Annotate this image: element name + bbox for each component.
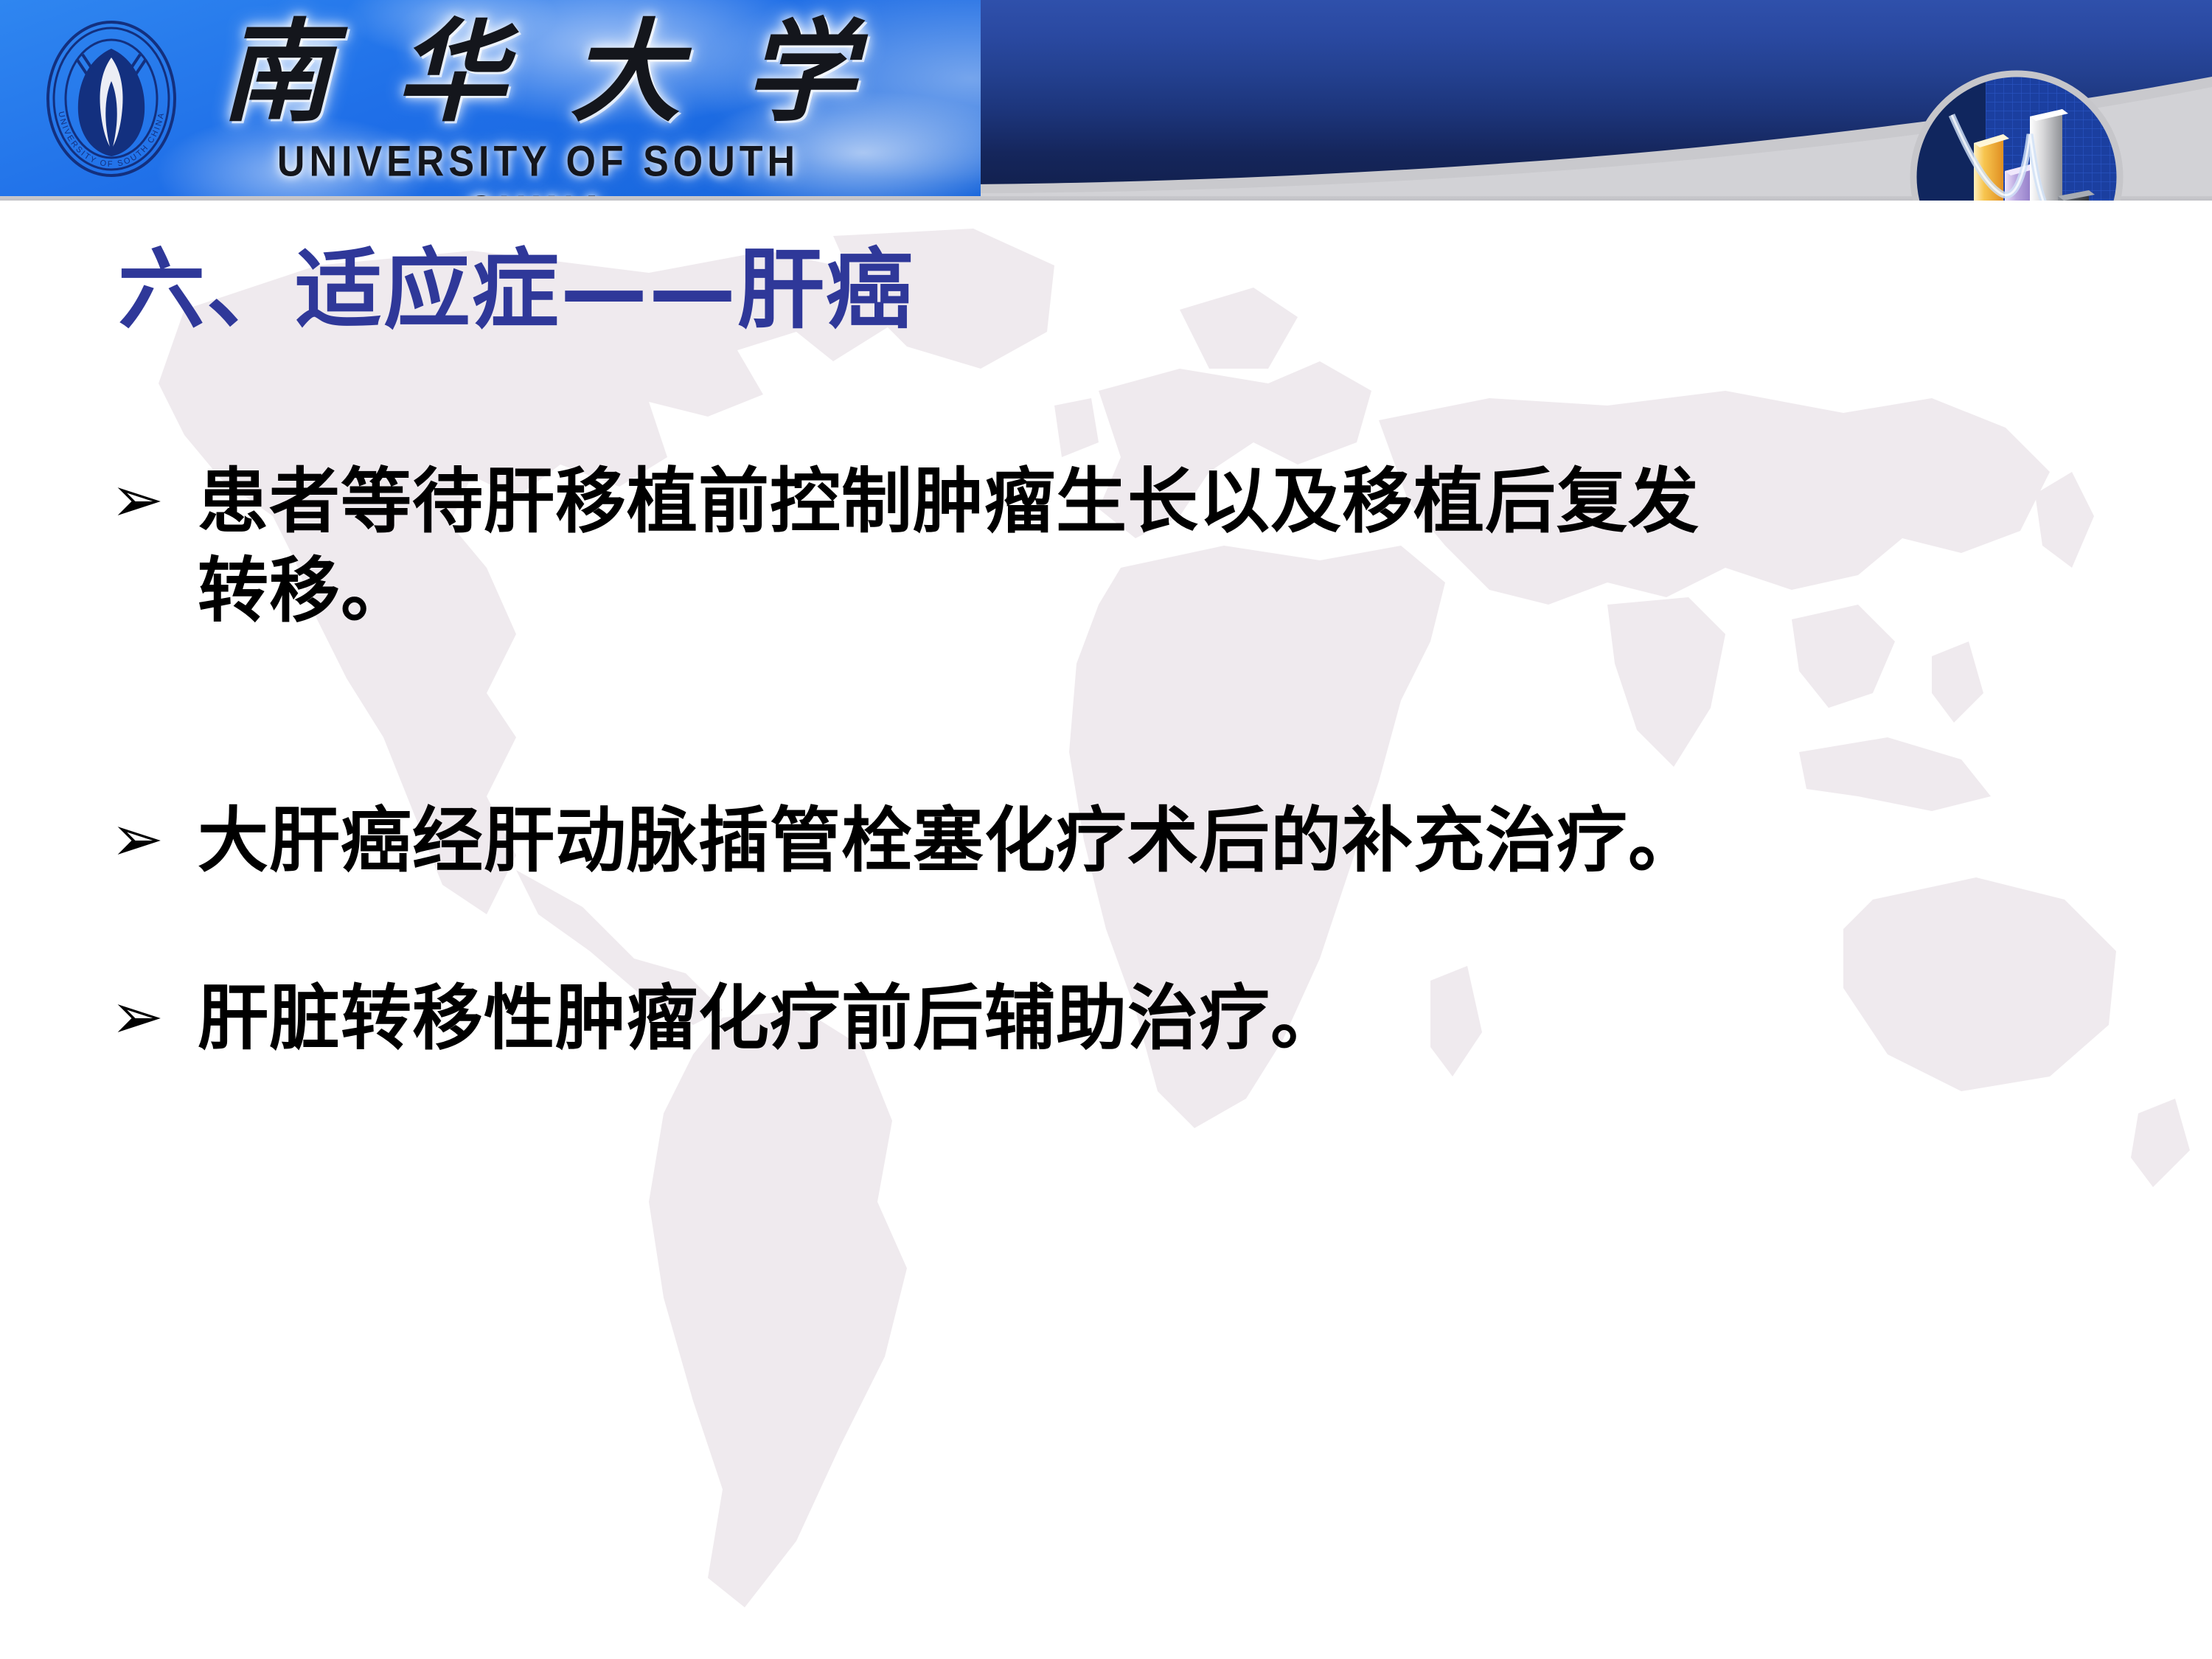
list-item-text: 患者等待肝移植前控制肿瘤生长以及移植后复发 转移。 xyxy=(198,457,2146,636)
list-item: ➢ 患者等待肝移植前控制肿瘤生长以及移植后复发 转移。 xyxy=(111,457,2146,636)
spacer xyxy=(111,636,2146,796)
slide: UNIVERSITY OF SOUTH CHINA 南 华 大 学 UNIVER… xyxy=(0,0,2212,1659)
bullet-list: ➢ 患者等待肝移植前控制肿瘤生长以及移植后复发 转移。 ➢ 大肝癌经肝动脉插管栓… xyxy=(111,457,2146,1063)
list-item-line: 患者等待肝移植前控制肿瘤生长以及移植后复发 xyxy=(198,457,2146,546)
university-chinese-name: 南 华 大 学 xyxy=(221,7,855,140)
logo-char-2: 华 xyxy=(396,18,507,129)
university-logo-banner: UNIVERSITY OF SOUTH CHINA 南 华 大 学 UNIVER… xyxy=(0,0,981,196)
list-item: ➢ 肝脏转移性肿瘤化疗前后辅助治疗。 xyxy=(111,974,2146,1063)
bullet-arrow-icon: ➢ xyxy=(111,796,198,883)
spacer xyxy=(111,886,2146,974)
list-item: ➢ 大肝癌经肝动脉插管栓塞化疗术后的补充治疗。 xyxy=(111,796,2146,886)
list-item-text: 肝脏转移性肿瘤化疗前后辅助治疗。 xyxy=(198,974,2146,1063)
list-item-line: 转移。 xyxy=(198,546,2146,636)
list-item-line: 肝脏转移性肿瘤化疗前后辅助治疗。 xyxy=(198,974,2146,1063)
logo-char-4: 学 xyxy=(745,18,855,129)
university-english-name: UNIVERSITY OF SOUTH CHINA xyxy=(221,137,855,196)
university-seal-icon: UNIVERSITY OF SOUTH CHINA xyxy=(31,13,192,184)
header-band: UNIVERSITY OF SOUTH CHINA 南 华 大 学 UNIVER… xyxy=(0,0,2212,201)
bullet-arrow-icon: ➢ xyxy=(111,974,198,1060)
bullet-arrow-icon: ➢ xyxy=(111,457,198,543)
list-item-text: 大肝癌经肝动脉插管栓塞化疗术后的补充治疗。 xyxy=(198,796,2146,886)
bar-chart-badge-icon xyxy=(1906,66,2127,201)
list-item-line: 大肝癌经肝动脉插管栓塞化疗术后的补充治疗。 xyxy=(198,796,2146,886)
logo-char-3: 大 xyxy=(570,18,681,129)
header-grey-divider xyxy=(0,196,2212,201)
logo-char-1: 南 xyxy=(221,18,332,129)
page-title: 六、适应症——肝癌 xyxy=(118,237,914,344)
